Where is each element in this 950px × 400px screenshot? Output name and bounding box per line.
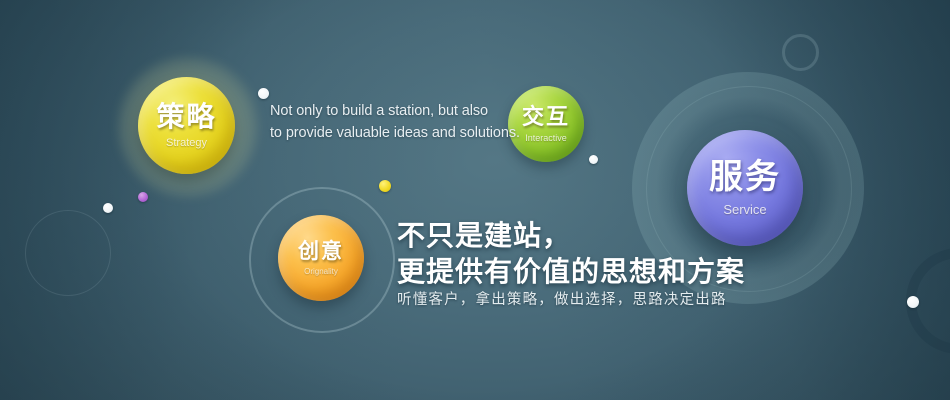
sphere-strategy-label-cn: 策略	[156, 103, 216, 131]
sphere-originality-label-cn: 创意	[298, 241, 344, 262]
sphere-strategy[interactable]: 策略 Strategy	[138, 77, 235, 174]
headline-line-1: 不只是建站，	[397, 218, 745, 254]
sphere-service-label-cn: 服务	[709, 160, 781, 194]
sphere-originality-label-en: Orignality	[304, 268, 338, 276]
sphere-originality[interactable]: 创意 Orignality	[278, 215, 364, 301]
sphere-interactive-label-en: Interactive	[525, 134, 567, 143]
hero-banner: 策略 Strategy 交互 Interactive 创意 Orignality…	[0, 0, 950, 400]
sphere-interactive-label-cn: 交互	[522, 106, 570, 128]
sphere-strategy-label-en: Strategy	[166, 138, 207, 149]
headline: 不只是建站， 更提供有价值的思想和方案	[397, 218, 745, 290]
english-tagline-line-1: Not only to build a station, but also	[270, 100, 520, 122]
english-tagline: Not only to build a station, but also to…	[270, 100, 520, 144]
english-tagline-line-2: to provide valuable ideas and solutions.	[270, 122, 520, 144]
subheadline: 听懂客户，拿出策略，做出选择，思路决定出路	[397, 288, 727, 309]
headline-line-2: 更提供有价值的思想和方案	[397, 254, 745, 290]
sphere-service-label-en: Service	[723, 203, 766, 216]
